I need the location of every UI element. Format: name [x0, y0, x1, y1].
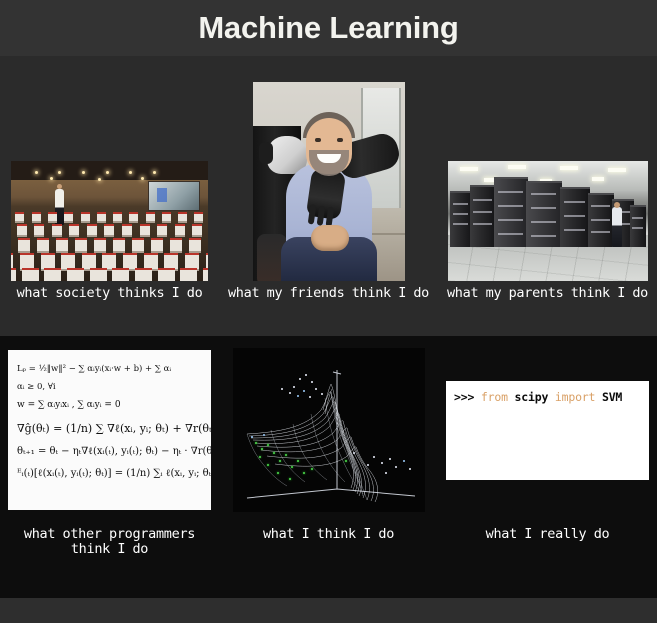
surface-plot-image — [233, 348, 425, 512]
lecture-hall-image — [11, 161, 208, 281]
panel-equations-image-wrap: Lₚ = ½‖w‖² − ∑ αᵢyᵢ(xᵢ·w + b) + ∑ αᵢ αᵢ … — [0, 336, 219, 518]
server-room-image — [448, 161, 648, 281]
equation-line: w = ∑ αᵢyᵢxᵢ , ∑ αᵢyᵢ = 0 — [17, 400, 202, 410]
module-name: scipy — [515, 390, 549, 404]
server-rack — [450, 191, 472, 247]
panel-i-really-do: >>> from scipy import SVM what I really … — [438, 336, 657, 598]
panel-society: what society thinks I do — [0, 56, 219, 336]
equation-line: ∇ĝ(θₜ) = (1/n) ∑ ∇ℓ(xᵢ, yᵢ; θₜ) + ∇r(θₜ)… — [17, 422, 202, 435]
man-eye-right — [337, 138, 343, 142]
equation-line: αᵢ ≥ 0, ∀i — [17, 382, 202, 392]
panel-parents-image-wrap — [438, 56, 657, 281]
panel-friends: what my friends think I do — [219, 56, 438, 336]
page-title: Machine Learning — [198, 10, 458, 46]
seat-rows — [11, 207, 208, 281]
panel-society-image-wrap — [0, 56, 219, 281]
panel-other-programmers: Lₚ = ½‖w‖² − ∑ αᵢyᵢ(xᵢ·w + b) + ∑ αᵢ αᵢ … — [0, 336, 219, 598]
server-rack — [494, 177, 528, 247]
panel-i-really-do-caption: what I really do — [440, 527, 655, 542]
keyword-import: import — [555, 390, 595, 404]
panel-other-programmers-caption: what other programmers think I do — [2, 527, 217, 557]
server-rack — [630, 205, 646, 247]
server-rack — [470, 185, 496, 247]
equation-line: θₜ₊₁ = θₜ − ηₜ∇ℓ(xᵢ(ₜ), yᵢ(ₜ); θₜ) − ηₜ … — [17, 446, 202, 457]
python-console-image[interactable]: >>> from scipy import SVM — [446, 381, 649, 480]
panel-grid: what society thinks I do — [0, 56, 657, 598]
equation-line: ᴱᵢ(ₜ)[ℓ(xᵢ(ₜ), yᵢ(ₜ); θₜ)] = (1/n) ∑ᵢ ℓ(… — [17, 468, 202, 479]
poster-header: Machine Learning — [0, 0, 657, 56]
server-rack — [526, 181, 562, 247]
panel-row-bottom: Lₚ = ½‖w‖² − ∑ αᵢyᵢ(xᵢ·w + b) + ∑ αᵢ αᵢ … — [0, 336, 657, 598]
server-rack — [588, 193, 614, 247]
panel-i-think: what I think I do — [219, 336, 438, 598]
meme-poster: Machine Learning — [0, 0, 657, 623]
man-clasped-hands — [311, 225, 349, 251]
poster-footer — [0, 598, 657, 623]
equations-sheet-image: Lₚ = ½‖w‖² − ∑ αᵢyᵢ(xᵢ·w + b) + ∑ αᵢ αᵢ … — [8, 350, 211, 510]
panel-plot-image-wrap — [219, 336, 438, 518]
panel-row-top: what society thinks I do — [0, 56, 657, 336]
console-import-line: >>> from scipy import SVM — [454, 390, 641, 404]
man-eye-left — [315, 138, 321, 142]
plot-wireframe-svg — [233, 348, 425, 512]
panel-i-think-caption: what I think I do — [221, 527, 436, 542]
imported-symbol: SVM — [602, 390, 622, 404]
console-prompt: >>> — [454, 390, 474, 404]
panel-friends-caption: what my friends think I do — [221, 286, 436, 301]
server-rack — [560, 187, 590, 247]
panel-parents-caption: what my parents think I do — [440, 286, 655, 301]
panel-society-caption: what society thinks I do — [2, 286, 217, 301]
panel-friends-image-wrap — [219, 56, 438, 281]
panel-parents: what my parents think I do — [438, 56, 657, 336]
equation-line: Lₚ = ½‖w‖² − ∑ αᵢyᵢ(xᵢ·w + b) + ∑ αᵢ — [17, 364, 202, 374]
technician-figure — [612, 207, 622, 247]
man-with-robot-image — [253, 82, 405, 281]
keyword-from: from — [481, 390, 508, 404]
panel-console-image-wrap: >>> from scipy import SVM — [438, 336, 657, 518]
